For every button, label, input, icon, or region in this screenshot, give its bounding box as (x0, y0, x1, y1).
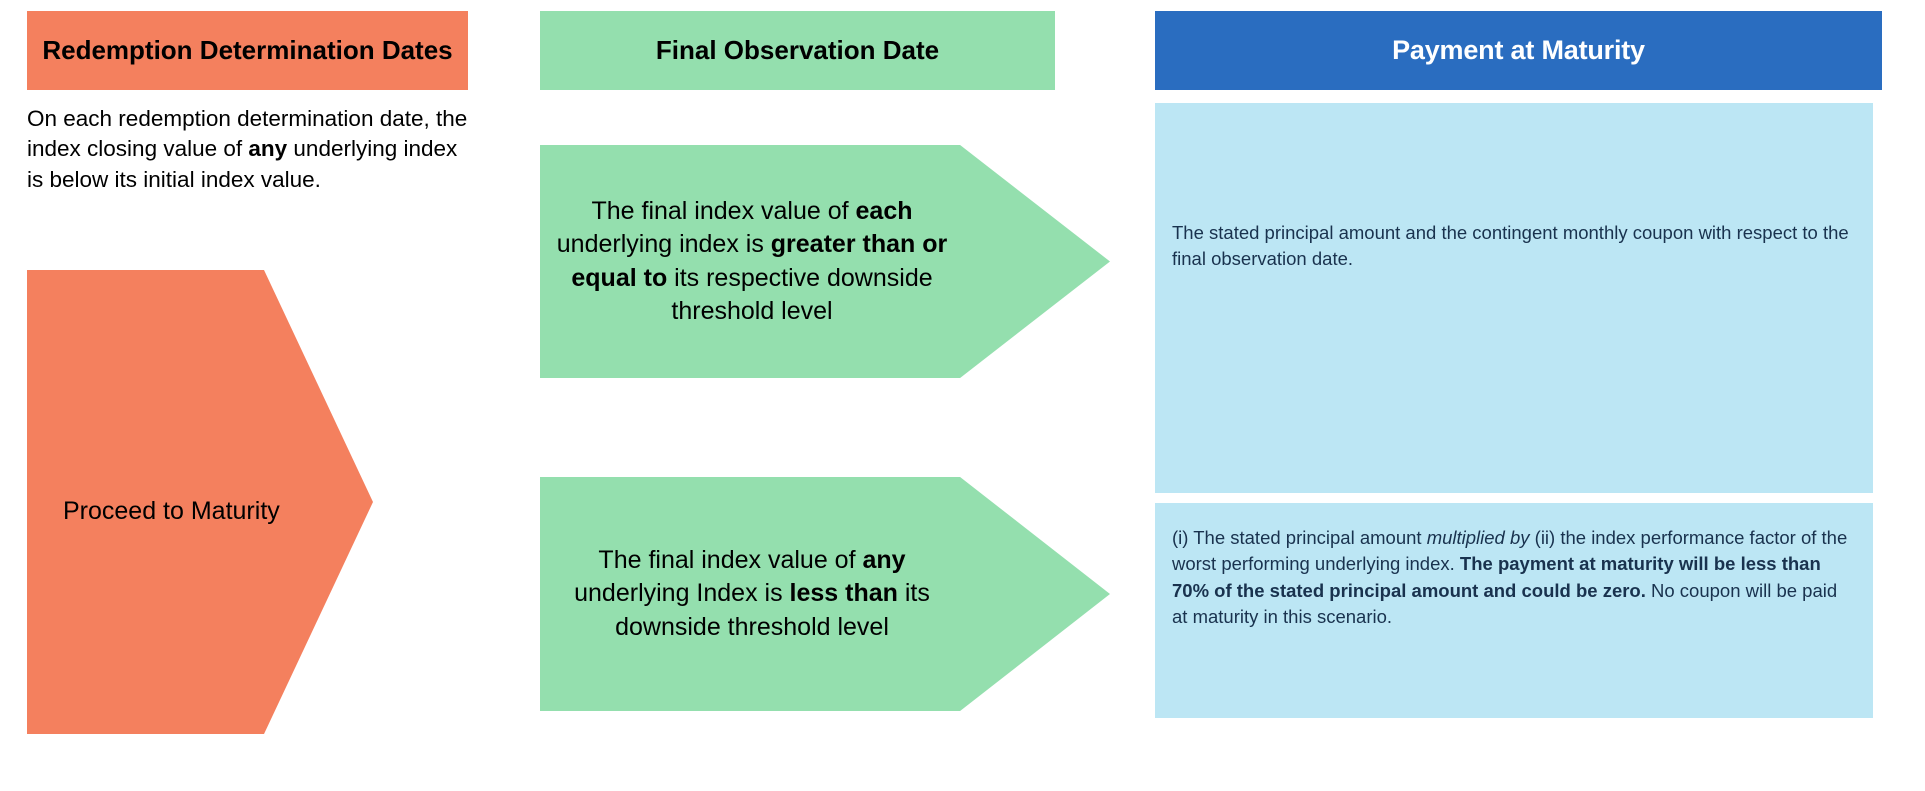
redemption-description: On each redemption determination date, t… (27, 104, 472, 195)
proceed-to-maturity-arrow: Proceed to Maturity (27, 270, 373, 734)
observation-header: Final Observation Date (540, 11, 1055, 90)
proceed-to-maturity-label: Proceed to Maturity (27, 497, 280, 526)
observation-arrow-below-threshold-text: The final index value of any underlying … (540, 544, 962, 645)
redemption-description-emphasis: any (248, 136, 287, 161)
payment-panel-downside-text: (i) The stated principal amount multipli… (1172, 525, 1857, 630)
payment-panel-upside-text: The stated principal amount and the cont… (1172, 220, 1857, 273)
payment-header-label: Payment at Maturity (1392, 35, 1645, 66)
payment-panel-downside: (i) The stated principal amount multipli… (1155, 503, 1873, 718)
redemption-header: Redemption Determination Dates (27, 11, 468, 90)
observation-arrow-above-threshold: The final index value of each underlying… (540, 145, 1110, 378)
redemption-header-label: Redemption Determination Dates (42, 36, 452, 66)
observation-header-label: Final Observation Date (656, 35, 939, 66)
payment-panel-upside: The stated principal amount and the cont… (1155, 103, 1873, 493)
observation-arrow-above-threshold-text: The final index value of each underlying… (540, 195, 962, 329)
payment-header: Payment at Maturity (1155, 11, 1882, 90)
observation-arrow-below-threshold: The final index value of any underlying … (540, 477, 1110, 711)
